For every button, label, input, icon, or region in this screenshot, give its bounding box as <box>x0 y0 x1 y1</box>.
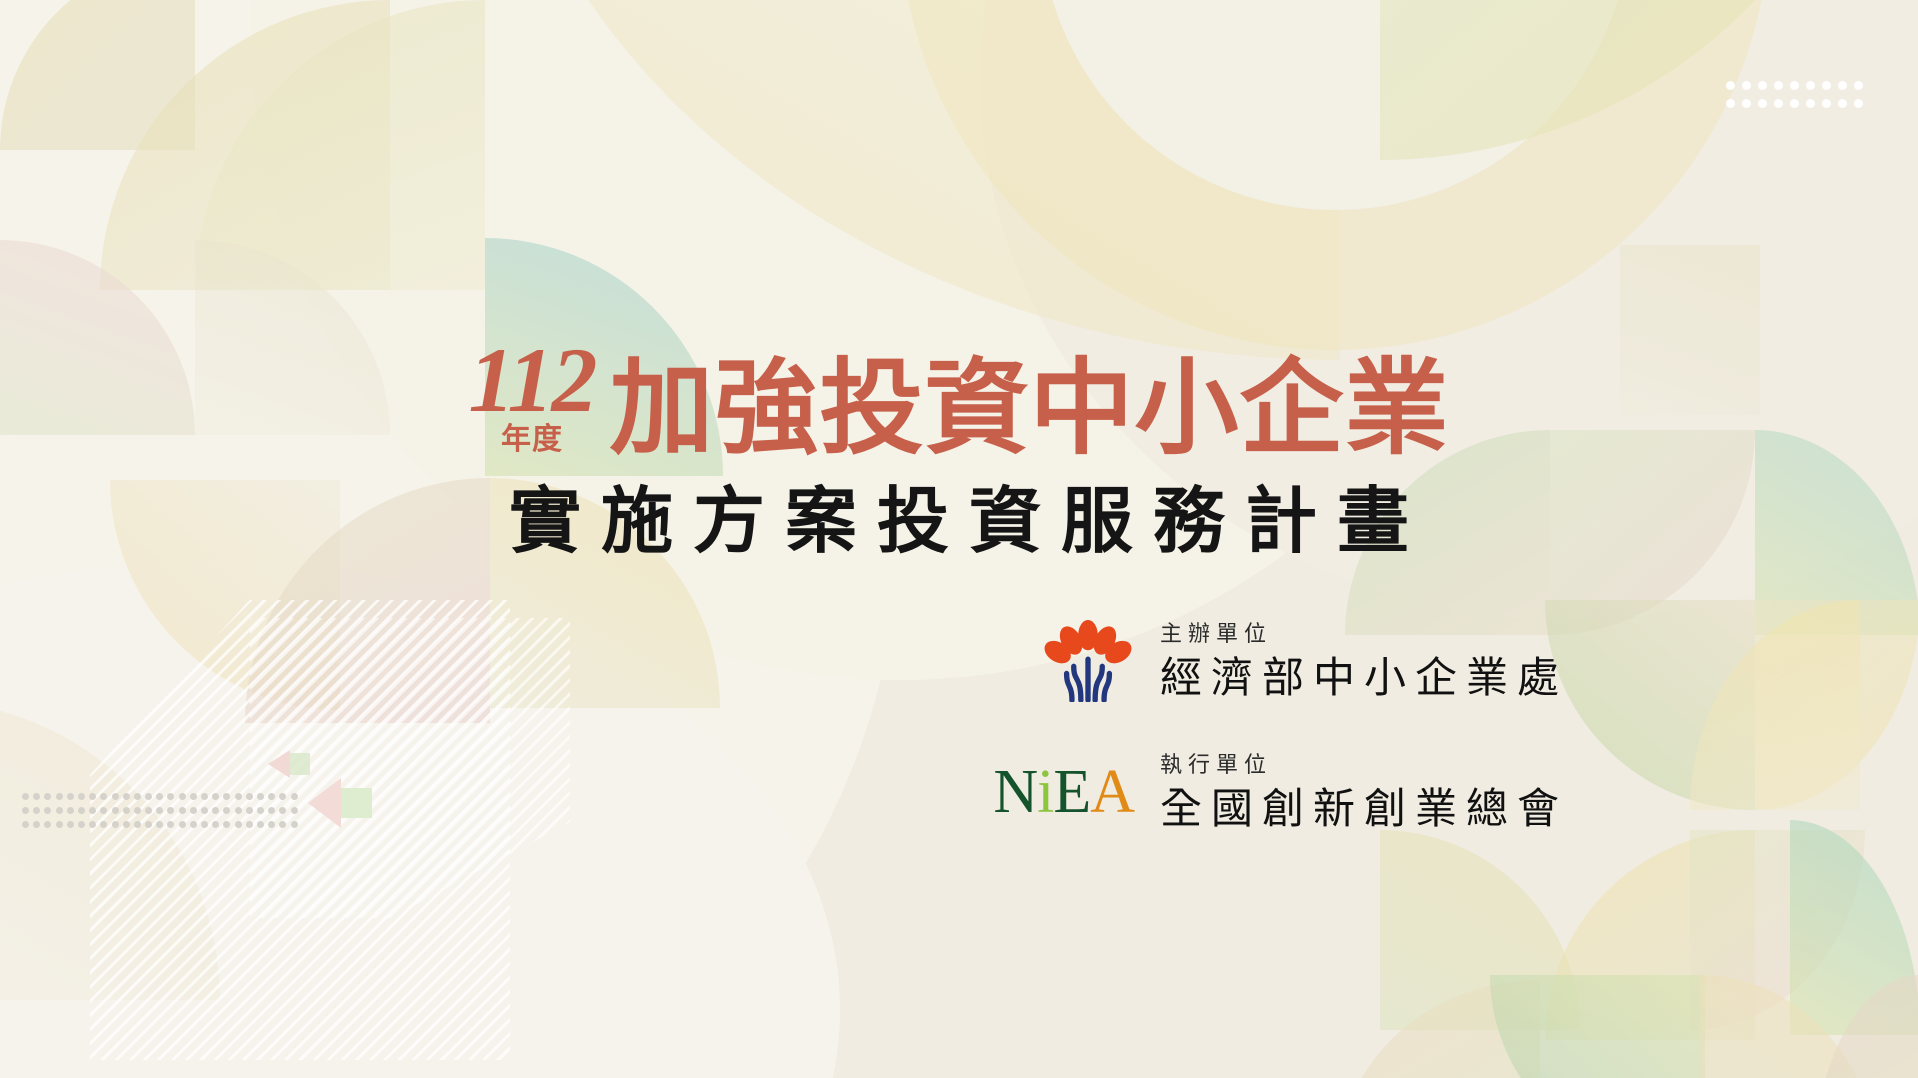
organization-kicker: 執行單位 <box>1160 754 1568 776</box>
niea-letter-n: N <box>993 758 1037 826</box>
year-label: 年度 <box>501 425 563 455</box>
page-title: 加強投資中小企業 <box>609 357 1449 461</box>
niea-letter-i: i <box>1037 758 1053 826</box>
year-badge: 112 年度 <box>469 338 596 461</box>
organization-name: 經濟部中小企業處 <box>1160 657 1568 699</box>
moea-emblem-icon <box>1042 620 1134 702</box>
organization-text-executor: 執行單位 全國創新創業總會 <box>1160 754 1568 830</box>
organization-kicker: 主辦單位 <box>1160 623 1568 645</box>
niea-wordmark-icon: NiEA <box>993 761 1134 823</box>
organizations-block: 主辦單位 經濟部中小企業處 NiEA 執行單位 全國創新創業總會 <box>0 620 1918 830</box>
niea-letter-e: E <box>1053 758 1090 826</box>
title-block: 112 年度 加強投資中小企業 實施方案投資服務計畫 <box>0 338 1918 565</box>
organization-row-host: 主辦單位 經濟部中小企業處 <box>0 620 1918 702</box>
organization-name: 全國創新創業總會 <box>1160 788 1568 830</box>
poster-content: 112 年度 加強投資中小企業 實施方案投資服務計畫 <box>0 0 1918 1078</box>
year-number: 112 <box>469 338 596 423</box>
organization-text-host: 主辦單位 經濟部中小企業處 <box>1160 623 1568 699</box>
niea-letter-a: A <box>1090 758 1134 826</box>
page-subtitle: 實施方案投資服務計畫 <box>0 479 1918 565</box>
poster-canvas: 112 年度 加強投資中小企業 實施方案投資服務計畫 <box>0 0 1918 1078</box>
title-main-line: 112 年度 加強投資中小企業 <box>0 338 1918 461</box>
organization-row-executor: NiEA 執行單位 全國創新創業總會 <box>0 754 1918 830</box>
